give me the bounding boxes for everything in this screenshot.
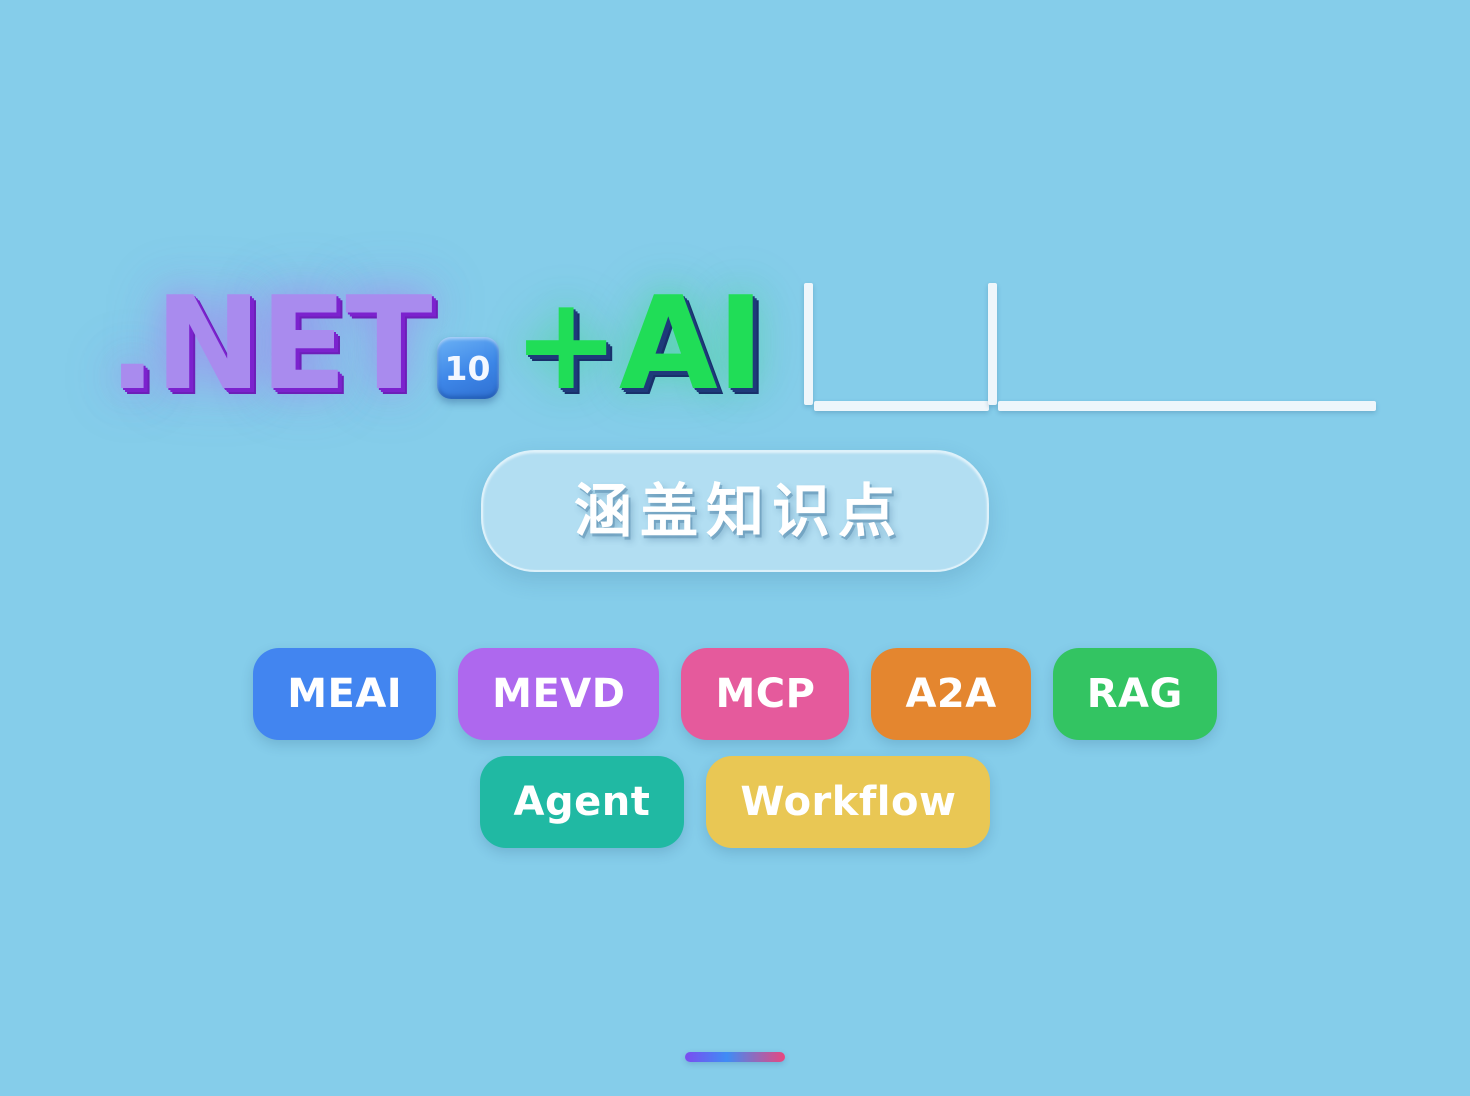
- blank-horizontal-line: [814, 401, 989, 411]
- slide-root: .NET 10 +AI 涵盖知识点 MEAI MEVD MCP A2A RAG: [0, 0, 1470, 1096]
- tag-row-2: Agent Workflow: [0, 756, 1470, 848]
- dotnet-version-badge: 10: [437, 337, 499, 399]
- blank-vertical-bar: [988, 283, 997, 405]
- tag-meai[interactable]: MEAI: [253, 648, 436, 740]
- tag-mevd[interactable]: MEVD: [458, 648, 659, 740]
- tag-rag[interactable]: RAG: [1053, 648, 1217, 740]
- blank-placeholders: [800, 283, 1380, 411]
- blank-vertical-bar: [804, 283, 813, 405]
- tag-a2a[interactable]: A2A: [871, 648, 1030, 740]
- tag-workflow[interactable]: Workflow: [706, 756, 990, 848]
- blank-placeholder-long: [988, 283, 1378, 411]
- subtitle-wrapper: 涵盖知识点: [0, 450, 1470, 572]
- dotnet-title: .NET: [108, 281, 431, 409]
- tag-row-1: MEAI MEVD MCP A2A RAG: [0, 648, 1470, 740]
- subtitle-label: 涵盖知识点: [566, 482, 904, 540]
- tag-agent[interactable]: Agent: [480, 756, 685, 848]
- blank-placeholder-short: [804, 283, 989, 411]
- ai-title: +AI: [513, 281, 764, 409]
- progress-wrapper: [0, 1052, 1470, 1062]
- subtitle-badge: 涵盖知识点: [481, 450, 989, 572]
- blank-horizontal-line: [998, 401, 1376, 411]
- slide-progress-bar[interactable]: [685, 1052, 785, 1062]
- tag-list: MEAI MEVD MCP A2A RAG Agent Workflow: [0, 648, 1470, 848]
- tag-mcp[interactable]: MCP: [681, 648, 849, 740]
- title-inner: .NET 10 +AI: [108, 255, 763, 415]
